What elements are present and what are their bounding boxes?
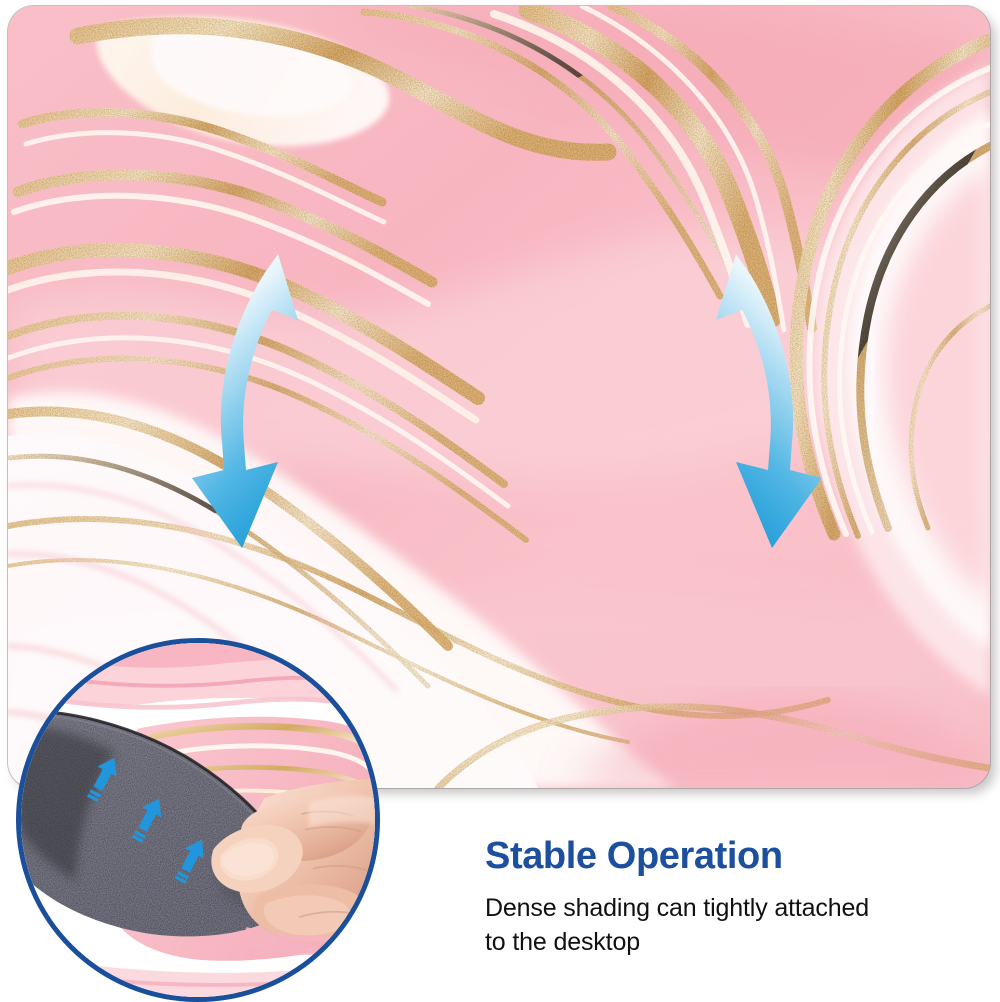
feature-description: Dense shading can tightly attached to th… xyxy=(485,891,985,960)
feature-description-line-2: to the desktop xyxy=(485,925,985,960)
feature-description-line-1: Dense shading can tightly attached xyxy=(485,891,985,926)
feature-title: Stable Operation xyxy=(485,836,985,878)
product-feature-image: Stable Operation Dense shading can tight… xyxy=(0,0,1000,1002)
inset-detail-circle xyxy=(16,638,380,1002)
hand-lifting-mousepad-graphic xyxy=(21,643,375,997)
feature-text-block: Stable Operation Dense shading can tight… xyxy=(485,836,985,960)
